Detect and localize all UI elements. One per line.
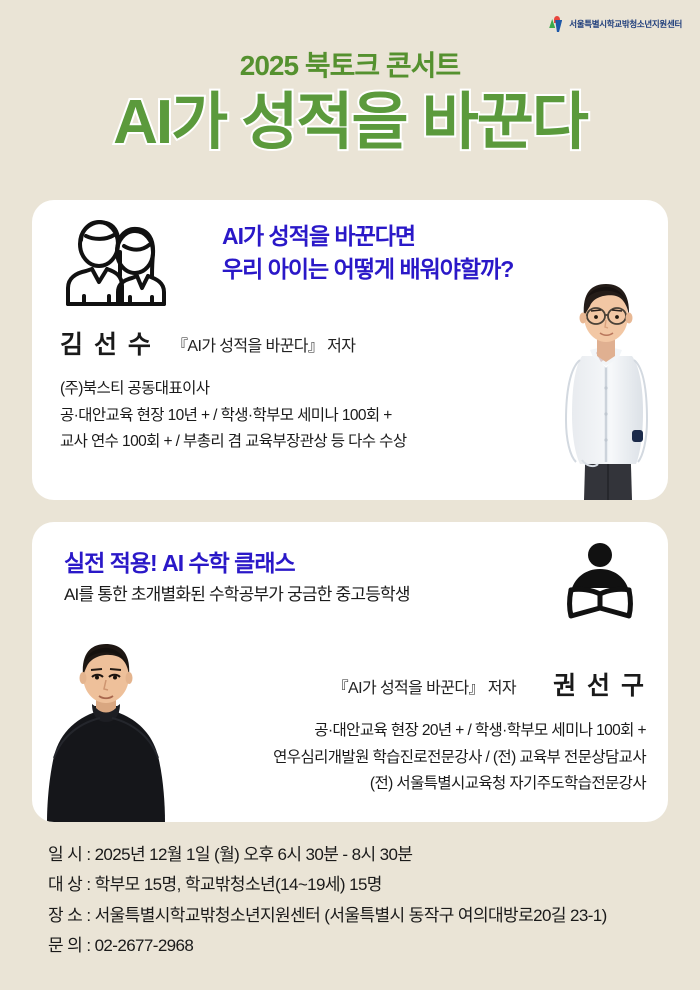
event-details: 일 시 : 2025년 12월 1일 (월) 오후 6시 30분 - 8시 30…	[48, 840, 680, 961]
session-two-bio: 공·대안교육 현장 20년 + / 학생·학부모 세미나 100회 + 연우심리…	[273, 718, 646, 798]
detail-row-venue: 장 소 : 서울특별시학교밖청소년지원센터 (서울특별시 동작구 여의대방로20…	[48, 901, 680, 931]
session-one-book-credit: 『AI가 성적을 바꾼다』 저자	[172, 332, 355, 356]
detail-value-date: 2025년 12월 1일 (월) 오후 6시 30분 - 8시 30분	[95, 845, 413, 864]
detail-label-date: 일 시 :	[48, 840, 90, 870]
detail-value-contact: 02-2677-2968	[95, 936, 194, 955]
session-one-bio: (주)북스티 공동대표이사 공·대안교육 현장 10년 + / 학생·학부모 세…	[60, 376, 407, 456]
detail-value-audience: 학부모 15명, 학교밖청소년(14~19세) 15명	[95, 875, 382, 894]
session-two-book-credit: 『AI가 성적을 바꾼다』 저자	[333, 674, 516, 698]
detail-row-contact: 문 의 : 02-2677-2968	[48, 931, 680, 961]
detail-row-date: 일 시 : 2025년 12월 1일 (월) 오후 6시 30분 - 8시 30…	[48, 840, 680, 870]
parents-couple-icon	[62, 218, 170, 311]
organization-name: 서울특별시학교밖청소년지원센터	[569, 18, 682, 30]
session-two-speaker-name: 권 선 구	[553, 666, 646, 702]
session-two-subtitle: AI를 통한 초개별화된 수학공부가 궁금한 중고등학생	[64, 580, 410, 605]
session-card-kim: AI가 성적을 바꾼다면 우리 아이는 어떻게 배워야할까? 김 선 수 『AI…	[32, 200, 668, 500]
detail-label-audience: 대 상 :	[48, 870, 90, 900]
session-card-kwon: 실전 적용! AI 수학 클래스 AI를 통한 초개별화된 수학공부가 궁금한 …	[32, 522, 668, 822]
detail-value-venue: 서울특별시학교밖청소년지원센터 (서울특별시 동작구 여의대방로20길 23-1…	[95, 906, 607, 925]
detail-label-venue: 장 소 :	[48, 901, 90, 931]
session-two-title: 실전 적용! AI 수학 클래스	[64, 544, 295, 578]
speaker-kwon-photo	[42, 636, 170, 822]
center-logo-icon	[549, 16, 565, 32]
session-one-title: AI가 성적을 바꾼다면 우리 아이는 어떻게 배워야할까?	[222, 220, 513, 285]
event-kicker: 2025 북토크 콘서트	[0, 44, 700, 84]
session-one-speaker-name: 김 선 수	[60, 325, 153, 361]
poster-root: 서울특별시학교밖청소년지원센터 2025 북토크 콘서트 AI가 성적을 바꾼다	[0, 0, 700, 990]
detail-label-contact: 문 의 :	[48, 931, 90, 961]
speaker-kim-photo	[546, 264, 664, 500]
page-title: AI가 성적을 바꾼다	[0, 92, 700, 154]
detail-row-audience: 대 상 : 학부모 15명, 학교밖청소년(14~19세) 15명	[48, 870, 680, 900]
student-reading-icon	[564, 542, 636, 625]
organization-logo: 서울특별시학교밖청소년지원센터	[549, 16, 682, 32]
